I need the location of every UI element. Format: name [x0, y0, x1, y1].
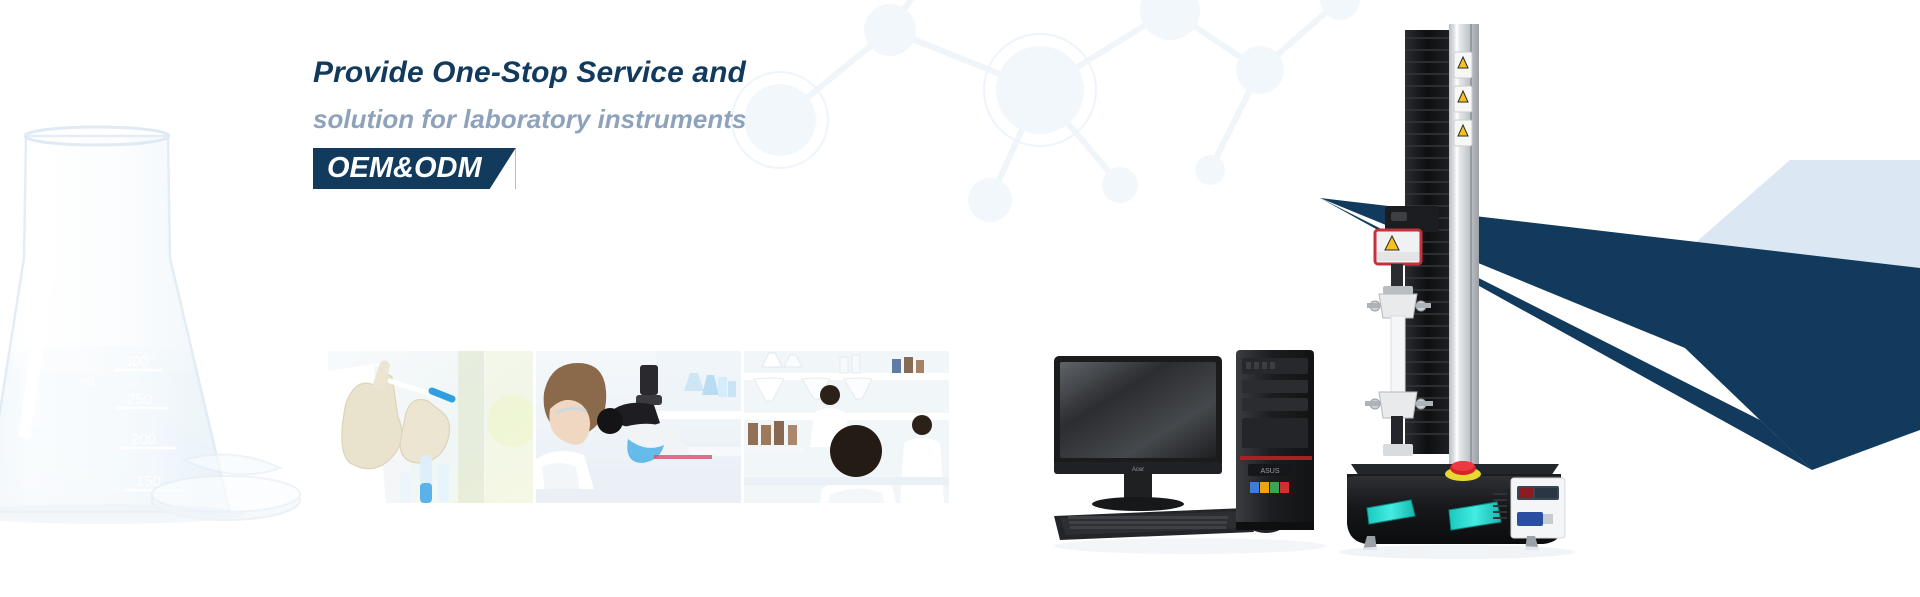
- keyboard: [1054, 508, 1254, 540]
- headline-line-1: Provide One-Stop Service and: [313, 58, 933, 88]
- universal-testing-machine: [1345, 24, 1575, 559]
- computer-tower: ASUS: [1236, 350, 1314, 530]
- svg-text:250: 250: [127, 391, 152, 408]
- specimen: [1391, 316, 1405, 394]
- svg-text:Acer: Acer: [1132, 467, 1144, 473]
- headline-line-2: solution for laboratory instruments: [313, 106, 933, 132]
- photo-pipetting-gloves: [328, 351, 533, 503]
- svg-text:300: 300: [124, 353, 149, 370]
- headline-block: Provide One-Stop Service and solution fo…: [313, 58, 933, 189]
- base-cabinet: [1347, 461, 1565, 550]
- svg-text:200: 200: [131, 431, 156, 448]
- monitor: Acer: [1054, 356, 1222, 511]
- svg-text:ASUS: ASUS: [1260, 468, 1279, 475]
- promotional-banner: 300 250 200 150 mL Provide One-Stop Serv…: [0, 0, 1920, 597]
- light-blue-triangle-shape: [1630, 160, 1920, 420]
- laboratory-photo-strip: [328, 351, 949, 503]
- warning-labels: [1454, 52, 1472, 146]
- oem-odm-badge-label: OEM&ODM: [327, 152, 482, 184]
- oem-odm-badge: OEM&ODM: [313, 148, 516, 189]
- svg-text:mL: mL: [80, 374, 98, 389]
- erlenmeyer-flask-image: 300 250 200 150 mL: [0, 108, 264, 528]
- desktop-computer-setup: Acer: [1050, 350, 1330, 560]
- photo-laboratory-team: [744, 351, 949, 503]
- photo-microscope-researcher: [536, 351, 741, 503]
